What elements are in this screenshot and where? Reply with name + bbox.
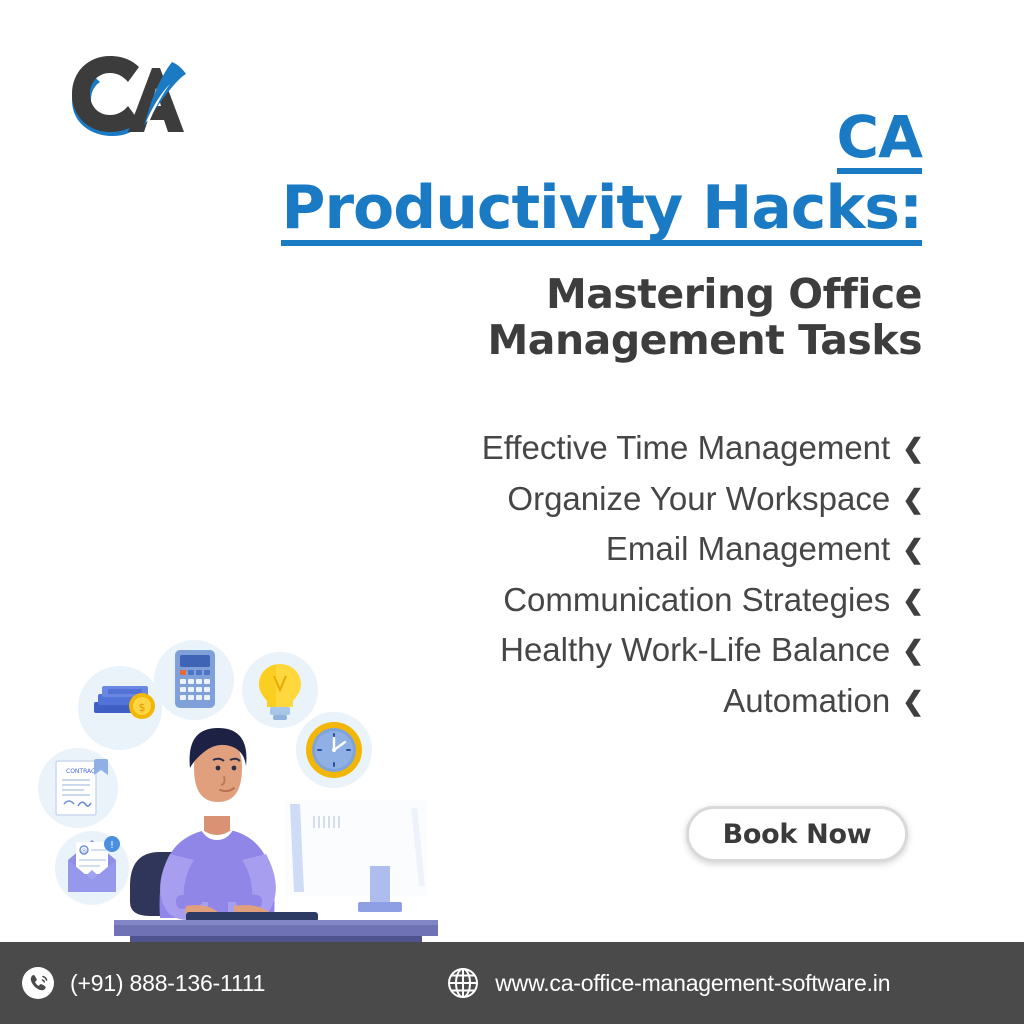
feature-label: Automation xyxy=(723,682,890,719)
headline-block: CA Productivity Hacks: Mastering Office … xyxy=(222,108,922,364)
headline-line-2-text: Productivity Hacks: xyxy=(281,178,922,246)
calculator-icon xyxy=(175,650,215,708)
list-item[interactable]: Communication Strategies❮ xyxy=(304,576,924,627)
feature-label: Effective Time Management xyxy=(482,429,890,466)
footer-phone[interactable]: (+91) 888-136-1111 xyxy=(18,963,265,1003)
man-working-at-desk-illustration: $ xyxy=(18,628,488,946)
chevron-left-icon: ❮ xyxy=(902,678,924,726)
headline-line-1-text: CA xyxy=(837,108,922,174)
footer-phone-text: (+91) 888-136-1111 xyxy=(70,970,265,997)
chevron-left-icon: ❮ xyxy=(902,526,924,574)
headline-subtitle-line-2: Management Tasks xyxy=(488,316,923,364)
chevron-left-icon: ❮ xyxy=(902,425,924,473)
footer-website[interactable]: www.ca-office-management-software.in xyxy=(443,963,890,1003)
feature-label: Organize Your Workspace xyxy=(507,480,890,517)
feature-label: Email Management xyxy=(606,530,890,567)
globe-icon xyxy=(443,963,483,1003)
headline-line-2: Productivity Hacks: xyxy=(222,178,922,246)
computer-monitor xyxy=(286,800,426,912)
ca-logo[interactable] xyxy=(60,48,200,140)
feature-label: Communication Strategies xyxy=(503,581,890,618)
svg-text:@: @ xyxy=(81,848,87,855)
book-now-label: Book Now xyxy=(723,819,872,850)
list-item[interactable]: Email Management❮ xyxy=(304,525,924,576)
svg-text:!: ! xyxy=(110,840,114,851)
chevron-left-icon: ❮ xyxy=(902,627,924,675)
list-item[interactable]: Organize Your Workspace❮ xyxy=(304,475,924,526)
person-figure xyxy=(160,728,276,920)
list-item[interactable]: Effective Time Management❮ xyxy=(304,424,924,475)
footer-bar: (+91) 888-136-1111 www.ca-office-managem… xyxy=(0,942,1024,1024)
footer-website-text: www.ca-office-management-software.in xyxy=(495,970,890,997)
chevron-left-icon: ❮ xyxy=(902,476,924,524)
book-now-button[interactable]: Book Now xyxy=(686,806,908,862)
headline-subtitle: Mastering Office Management Tasks xyxy=(222,272,922,364)
headline-subtitle-line-1: Mastering Office xyxy=(546,270,922,318)
chevron-left-icon: ❮ xyxy=(902,577,924,625)
headline-line-1: CA xyxy=(222,108,922,174)
poster-canvas: CA Productivity Hacks: Mastering Office … xyxy=(0,0,1024,1024)
feature-label: Healthy Work-Life Balance xyxy=(500,631,890,668)
svg-text:$: $ xyxy=(139,701,146,714)
phone-icon xyxy=(18,963,58,1003)
clock-icon xyxy=(306,722,362,778)
